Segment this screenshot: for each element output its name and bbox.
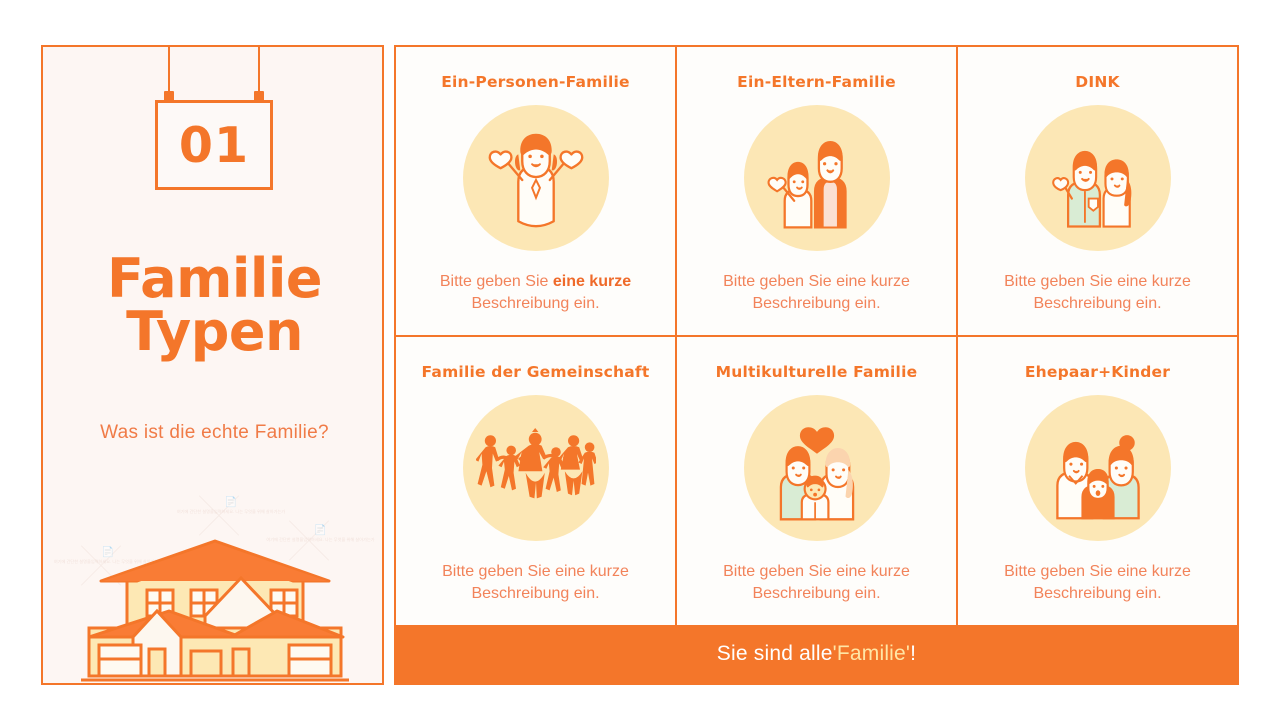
card-description: Bitte geben Sie eine kurze Beschreibung … <box>978 271 1218 315</box>
footer-banner: Sie sind alle 'Familie'! <box>396 625 1237 683</box>
card-description: Bitte geben Sie eine kurze Beschreibung … <box>416 561 656 605</box>
cards-panel: Ein-Personen-Familie <box>394 45 1239 685</box>
banner-highlight: 'Familie' <box>833 642 911 666</box>
watermark-note-text-1: 여기에 간단한 설명을입력하세요. 나는 무엇을 위해 살아가는가 <box>177 509 285 514</box>
hanging-sign: 01 <box>43 47 384 192</box>
card-familie-der-gemeinschaft[interactable]: Familie der Gemeinschaft <box>396 337 675 625</box>
sign-string-right <box>258 47 260 95</box>
card-description-plain: Bitte geben Sie <box>440 273 553 290</box>
card-ein-eltern-familie[interactable]: Ein-Eltern-Familie <box>677 47 956 335</box>
title-panel: 01 Familie Typen Was ist die echte Famil… <box>41 45 384 685</box>
page-title-line-1: Familie <box>43 252 384 305</box>
note-icon: 📄 <box>171 497 291 508</box>
card-title: Ehepaar+Kinder <box>1025 363 1170 383</box>
sign-string-left <box>168 47 170 95</box>
house-illustration <box>81 533 349 683</box>
banner-prefix: Sie sind alle <box>717 642 833 666</box>
card-description-bold: eine kurze <box>553 273 631 290</box>
card-title: DINK <box>1075 73 1119 93</box>
page-title: Familie Typen <box>43 252 384 358</box>
card-description: Bitte geben Sie eine kurze Beschreibung … <box>697 561 937 605</box>
card-description-tail: Beschreibung ein. <box>471 295 599 312</box>
single-person-cheering-icon <box>463 105 609 251</box>
card-title: Familie der Gemeinschaft <box>422 363 650 383</box>
watermark-note-1: 📄 여기에 간단한 설명을입력하세요. 나는 무엇을 위해 살아가는가 <box>171 497 291 515</box>
section-number-card: 01 <box>155 100 273 190</box>
card-title: Ein-Personen-Familie <box>441 73 630 93</box>
card-ein-personen-familie[interactable]: Ein-Personen-Familie <box>396 47 675 335</box>
single-parent-with-child-icon <box>744 105 890 251</box>
community-people-dancing-icon <box>463 395 609 541</box>
card-description: Bitte geben Sie eine kurze Beschreibung … <box>697 271 937 315</box>
page-title-line-2: Typen <box>43 305 384 358</box>
cards-grid: Ein-Personen-Familie <box>396 47 1237 625</box>
couple-with-baby-heart-icon <box>744 395 890 541</box>
banner-suffix: ! <box>910 642 916 666</box>
couple-no-children-icon <box>1025 105 1171 251</box>
slide-canvas: 01 Familie Typen Was ist die echte Famil… <box>0 0 1280 720</box>
card-title: Ein-Eltern-Familie <box>737 73 896 93</box>
card-description: Bitte geben Sie eine kurze Beschreibung … <box>416 271 656 315</box>
card-dink[interactable]: DINK <box>958 47 1237 335</box>
card-title: Multikulturelle Familie <box>716 363 918 383</box>
card-multikulturelle-familie[interactable]: Multikulturelle Familie <box>677 337 956 625</box>
card-description: Bitte geben Sie eine kurze Beschreibung … <box>978 561 1218 605</box>
card-ehepaar-kinder[interactable]: Ehepaar+Kinder <box>958 337 1237 625</box>
married-couple-with-child-icon <box>1025 395 1171 541</box>
page-subtitle: Was ist die echte Familie? <box>43 422 384 444</box>
section-number: 01 <box>158 103 270 189</box>
